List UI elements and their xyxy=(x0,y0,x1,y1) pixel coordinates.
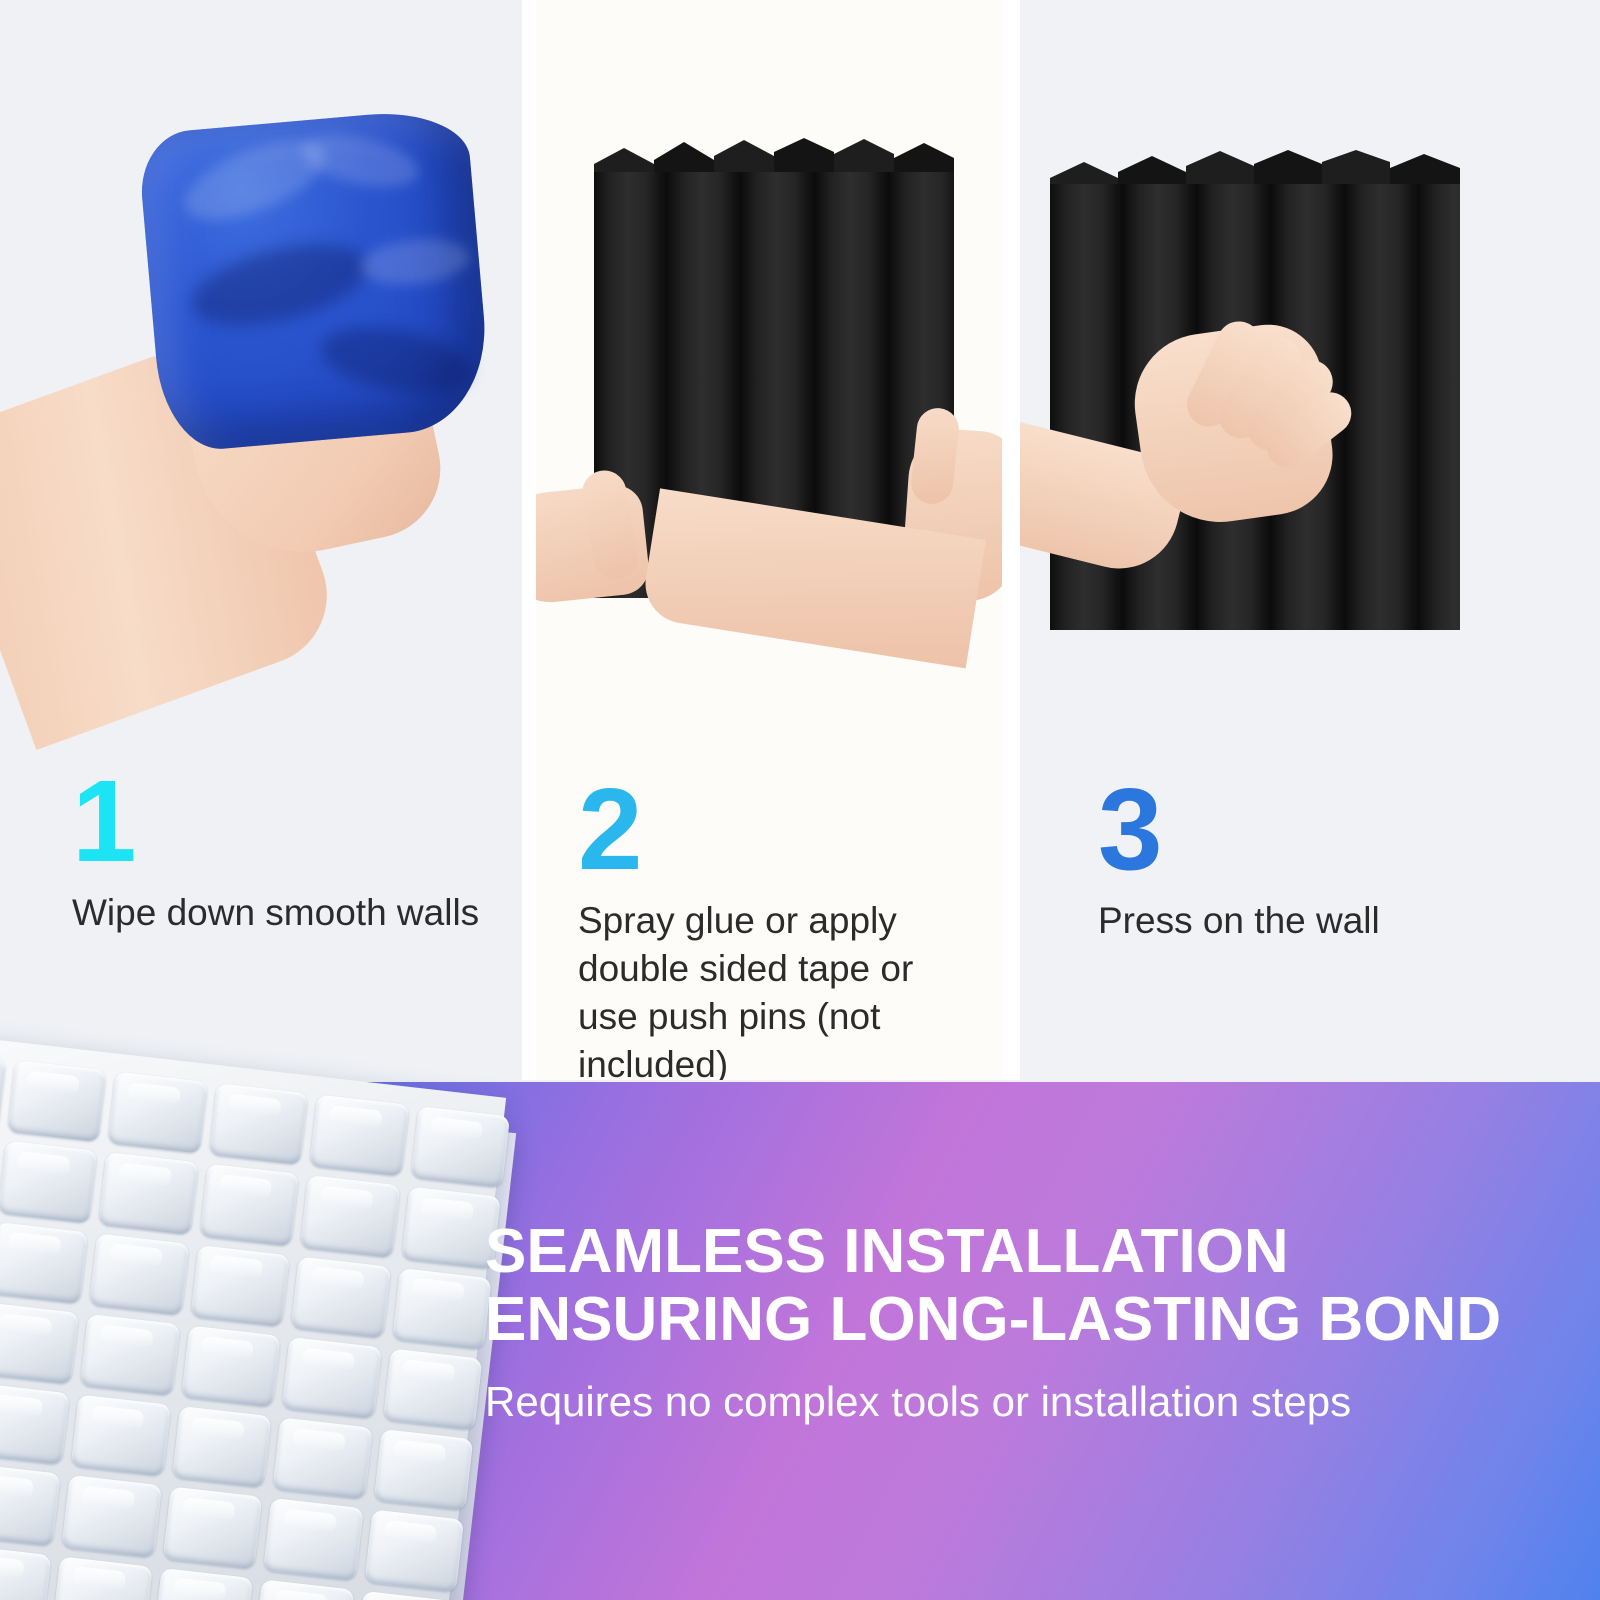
adhesive-pad xyxy=(61,1475,161,1557)
banner-subtitle: Requires no complex tools or installatio… xyxy=(485,1378,1585,1426)
adhesive-pad xyxy=(254,1579,354,1600)
step-1-number: 1 xyxy=(72,768,482,875)
adhesive-pad xyxy=(0,1222,88,1304)
adhesive-pad xyxy=(291,1256,391,1338)
step-2-number: 2 xyxy=(578,776,980,883)
adhesive-pad xyxy=(80,1314,180,1396)
adhesive-pad xyxy=(263,1498,363,1580)
adhesive-pad xyxy=(0,1141,97,1223)
step-3-text-block: 3 Press on the wall xyxy=(1098,776,1570,945)
step-3-caption: Press on the wall xyxy=(1098,897,1570,945)
adhesive-pad xyxy=(300,1175,400,1257)
adhesive-pad xyxy=(208,1083,308,1165)
step-2-text-block: 2 Spray glue or apply double sided tape … xyxy=(578,776,980,1080)
step-1-caption: Wipe down smooth walls xyxy=(72,889,482,937)
adhesive-pad xyxy=(199,1164,299,1246)
step-3-number: 3 xyxy=(1098,776,1570,883)
adhesive-pad xyxy=(52,1556,152,1600)
adhesive-pad xyxy=(373,1429,473,1511)
adhesive-pad xyxy=(153,1568,253,1600)
step-panel-2: 2 Spray glue or apply double sided tape … xyxy=(536,0,1002,1080)
adhesive-pad xyxy=(0,1464,61,1546)
adhesive-pad xyxy=(98,1152,198,1234)
adhesive-pad xyxy=(364,1510,464,1592)
blue-microfiber-cloth xyxy=(150,120,480,440)
adhesive-pad xyxy=(171,1406,271,1488)
adhesive-pad xyxy=(392,1268,492,1350)
adhesive-pad xyxy=(410,1106,510,1188)
banner-headline-line2: ENSURING LONG-LASTING BOND xyxy=(485,1286,1585,1354)
adhesive-pad xyxy=(190,1245,290,1327)
adhesive-pad xyxy=(7,1060,107,1142)
banner-text-block: SEAMLESS INSTALLATION ENSURING LONG-LAST… xyxy=(485,1218,1585,1426)
adhesive-pad xyxy=(162,1487,262,1569)
adhesive-pad xyxy=(282,1337,382,1419)
step-2-caption: Spray glue or apply double sided tape or… xyxy=(578,897,980,1080)
step-panel-1: 1 Wipe down smooth walls xyxy=(0,0,522,1080)
infographic-page: 1 Wipe down smooth walls xyxy=(0,0,1600,1600)
adhesive-pad xyxy=(0,1049,6,1131)
adhesive-pad xyxy=(382,1348,482,1430)
adhesive-pad xyxy=(181,1325,281,1407)
step-panel-3: 3 Press on the wall xyxy=(1020,0,1600,1080)
adhesive-pad xyxy=(89,1233,189,1315)
column-divider-2 xyxy=(1002,0,1020,1080)
adhesive-pad xyxy=(355,1591,455,1600)
adhesive-pad xyxy=(0,1545,51,1600)
adhesive-pad xyxy=(309,1095,409,1177)
step-1-photo-wipe-cloth xyxy=(0,100,522,740)
adhesive-pad-sheet-image xyxy=(0,1030,526,1600)
adhesive-pad-grid xyxy=(0,1049,510,1600)
steps-row: 1 Wipe down smooth walls xyxy=(0,0,1600,1080)
adhesive-pad xyxy=(0,1302,79,1384)
adhesive-pad xyxy=(0,1383,70,1465)
column-divider-1 xyxy=(522,0,536,1080)
adhesive-pad xyxy=(107,1072,207,1154)
adhesive-pad xyxy=(71,1395,171,1477)
banner-headline-line1: SEAMLESS INSTALLATION xyxy=(485,1218,1585,1286)
adhesive-pad xyxy=(272,1418,372,1500)
step-1-text-block: 1 Wipe down smooth walls xyxy=(72,768,482,937)
